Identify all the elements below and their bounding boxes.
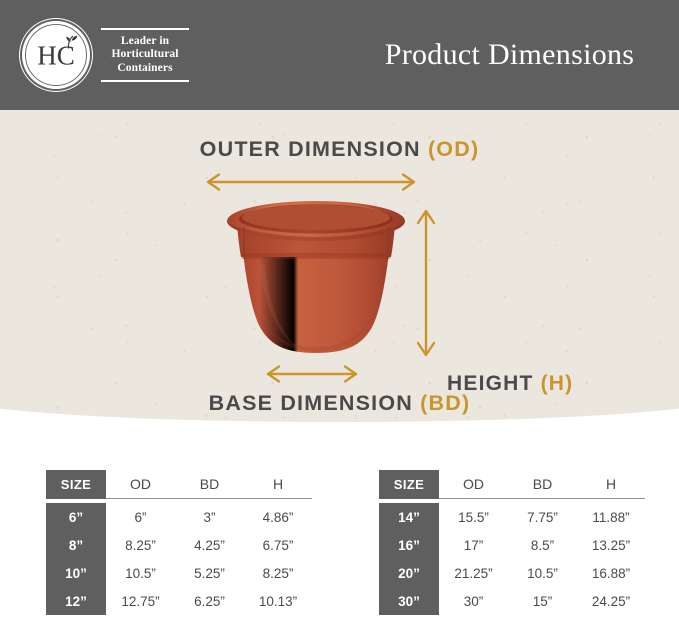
cell-size: 16” bbox=[379, 531, 439, 559]
cell-bd: 10.5” bbox=[508, 559, 577, 587]
table-row: 12” 12.75” 6.25” 10.13” bbox=[46, 587, 312, 615]
cell-bd: 7.75” bbox=[508, 503, 577, 531]
dimensions-table-small-sizes: SIZE OD BD H 6” 6” 3” 4.86” 8” 8.25” 4.2… bbox=[46, 470, 312, 615]
tagline-line-2: Horticultural bbox=[101, 48, 189, 62]
cell-size: 8” bbox=[46, 531, 106, 559]
column-header-bd: BD bbox=[508, 470, 577, 499]
cell-size: 12” bbox=[46, 587, 106, 615]
brand-lockup: HC Leader in Horticultural Containers bbox=[22, 21, 189, 89]
outer-dimension-abbr: (OD) bbox=[428, 137, 479, 161]
cell-size: 20” bbox=[379, 559, 439, 587]
cell-h: 24.25” bbox=[577, 587, 645, 615]
cell-size: 6” bbox=[46, 503, 106, 531]
page-header: HC Leader in Horticultural Containers Pr… bbox=[0, 0, 679, 110]
table-row: 20” 21.25” 10.5” 16.88” bbox=[379, 559, 645, 587]
cell-od: 21.25” bbox=[439, 559, 508, 587]
cell-size: 14” bbox=[379, 503, 439, 531]
table-header-row: SIZE OD BD H bbox=[46, 470, 312, 499]
page-title: Product Dimensions bbox=[340, 0, 679, 110]
cell-od: 10.5” bbox=[106, 559, 175, 587]
table-row: 10” 10.5” 5.25” 8.25” bbox=[46, 559, 312, 587]
cell-bd: 15” bbox=[508, 587, 577, 615]
flower-pot-illustration bbox=[219, 195, 414, 370]
cell-bd: 6.25” bbox=[175, 587, 244, 615]
hc-circle-leaf-logo-icon: HC bbox=[22, 21, 90, 89]
tagline-line-1: Leader in bbox=[101, 35, 189, 49]
cell-h: 13.25” bbox=[577, 531, 645, 559]
outer-dimension-label: OUTER DIMENSION (OD) bbox=[0, 137, 679, 162]
brand-tagline: Leader in Horticultural Containers bbox=[101, 25, 189, 85]
table-row: 6” 6” 3” 4.86” bbox=[46, 503, 312, 531]
cell-size: 30” bbox=[379, 587, 439, 615]
column-header-od: OD bbox=[439, 470, 508, 499]
cell-bd: 3” bbox=[175, 503, 244, 531]
height-arrow-icon bbox=[414, 208, 438, 358]
cell-od: 6” bbox=[106, 503, 175, 531]
table-row: 8” 8.25” 4.25” 6.75” bbox=[46, 531, 312, 559]
dimensions-tables: SIZE OD BD H 6” 6” 3” 4.86” 8” 8.25” 4.2… bbox=[0, 470, 679, 636]
cell-h: 11.88” bbox=[577, 503, 645, 531]
table-row: 14” 15.5” 7.75” 11.88” bbox=[379, 503, 645, 531]
cell-od: 15.5” bbox=[439, 503, 508, 531]
base-dimension-text: BASE DIMENSION bbox=[209, 391, 413, 415]
outer-dimension-arrow-icon bbox=[205, 173, 417, 191]
cell-h: 8.25” bbox=[244, 559, 312, 587]
column-header-h: H bbox=[244, 470, 312, 499]
cell-h: 4.86” bbox=[244, 503, 312, 531]
base-dimension-label: BASE DIMENSION (BD) bbox=[0, 391, 679, 416]
column-header-od: OD bbox=[106, 470, 175, 499]
cell-od: 17” bbox=[439, 531, 508, 559]
cell-size: 10” bbox=[46, 559, 106, 587]
tagline-rule-top bbox=[101, 28, 189, 30]
cell-bd: 8.5” bbox=[508, 531, 577, 559]
cell-h: 6.75” bbox=[244, 531, 312, 559]
cell-h: 16.88” bbox=[577, 559, 645, 587]
cell-od: 8.25” bbox=[106, 531, 175, 559]
table-row: 16” 17” 8.5” 13.25” bbox=[379, 531, 645, 559]
column-header-size: SIZE bbox=[379, 470, 439, 499]
cell-od: 12.75” bbox=[106, 587, 175, 615]
cell-bd: 5.25” bbox=[175, 559, 244, 587]
table-row: 30” 30” 15” 24.25” bbox=[379, 587, 645, 615]
table-header-row: SIZE OD BD H bbox=[379, 470, 645, 499]
base-dimension-arrow-icon bbox=[265, 365, 359, 383]
logo-letters: HC bbox=[22, 43, 90, 70]
tagline-line-3: Containers bbox=[101, 62, 189, 76]
column-header-size: SIZE bbox=[46, 470, 106, 499]
dimensions-table-large-sizes: SIZE OD BD H 14” 15.5” 7.75” 11.88” 16” … bbox=[379, 470, 645, 615]
diagram-panel: OUTER DIMENSION (OD) bbox=[0, 110, 679, 440]
cell-bd: 4.25” bbox=[175, 531, 244, 559]
cell-h: 10.13” bbox=[244, 587, 312, 615]
column-header-h: H bbox=[577, 470, 645, 499]
column-header-bd: BD bbox=[175, 470, 244, 499]
tagline-rule-bottom bbox=[101, 80, 189, 82]
base-dimension-abbr: (BD) bbox=[420, 391, 470, 415]
outer-dimension-text: OUTER DIMENSION bbox=[200, 137, 421, 161]
cell-od: 30” bbox=[439, 587, 508, 615]
